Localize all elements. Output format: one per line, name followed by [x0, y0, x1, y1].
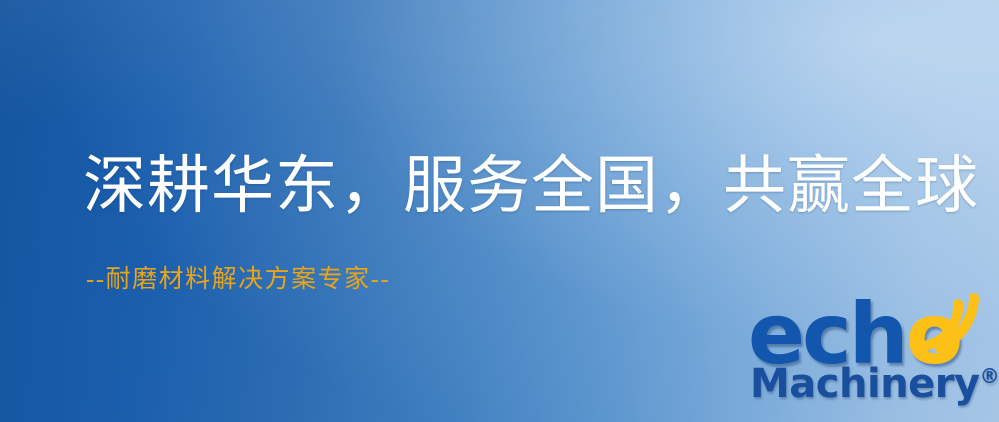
banner-subtitle: --耐磨材料解决方案专家--	[86, 266, 390, 294]
logo-subtext: Machinery®	[750, 364, 999, 404]
registered-trademark-icon: ®	[980, 364, 999, 388]
logo-subtext-label: Machinery	[750, 361, 980, 407]
echo-wave-arcs-icon	[914, 290, 980, 352]
echo-machinery-logo: echo Machinery®	[742, 296, 994, 418]
hero-banner: 深耕华东，服务全国，共赢全球 --耐磨材料解决方案专家-- echo Machi…	[0, 0, 999, 422]
banner-headline: 深耕华东，服务全国，共赢全球	[83, 152, 979, 220]
